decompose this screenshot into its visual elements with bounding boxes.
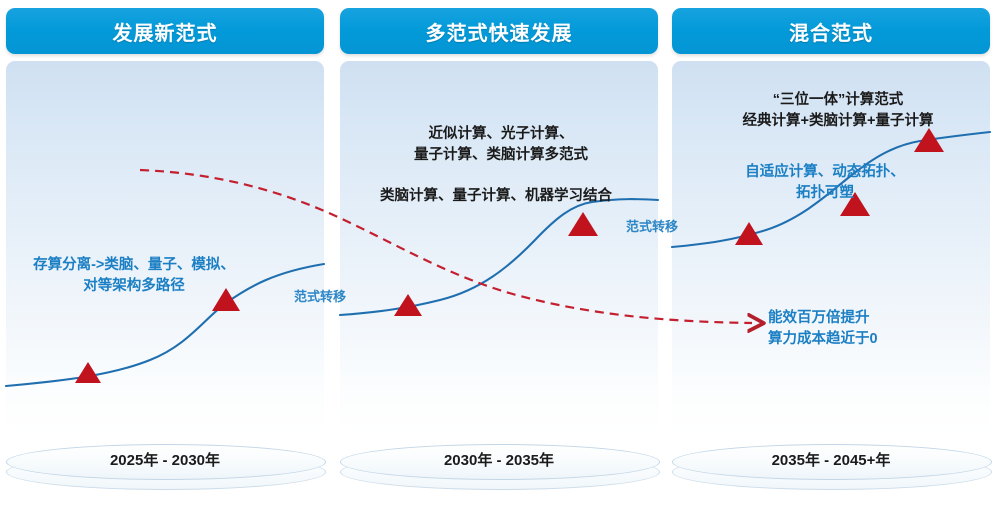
cost-arrow-label: 能效百万倍提升 算力成本趋近于0 [768,308,948,350]
annotation-stage-1: 存算分离->类脑、量子、模拟、 对等架构多路径 [14,255,254,297]
annotation-stage-2-mid: 类脑计算、量子计算、机器学习结合 [346,186,646,207]
roadmap-diagram: 发展新范式 多范式快速发展 混合范式 [0,0,994,514]
stage-body-1 [6,61,324,433]
paradigm-shift-label-2: 范式转移 [626,216,678,235]
stage-title-2: 多范式快速发展 [426,17,573,46]
stage-header-1[interactable]: 发展新范式 [6,8,324,54]
period-label-2: 2030年 - 2035年 [340,449,658,470]
stage-panel-1: 发展新范式 [6,0,324,440]
annotation-stage-2-top: 近似计算、光子计算、 量子计算、类脑计算多范式 [356,124,646,166]
stage-panel-2: 多范式快速发展 [340,0,658,440]
period-disc-3: 2035年 - 2045+年 [672,440,990,504]
annotation-stage-3-top: “三位一体”计算范式 经典计算+类脑计算+量子计算 [690,90,986,132]
period-label-1: 2025年 - 2030年 [6,449,324,470]
stage-title-3: 混合范式 [789,17,873,46]
stage-body-2 [340,61,658,433]
stage-title-1: 发展新范式 [113,17,218,46]
period-disc-1: 2025年 - 2030年 [6,440,324,504]
period-label-3: 2035年 - 2045+年 [672,449,990,470]
period-disc-2: 2030年 - 2035年 [340,440,658,504]
annotation-stage-3-mid: 自适应计算、动态拓扑、 拓扑可塑 [690,162,960,204]
stage-header-2[interactable]: 多范式快速发展 [340,8,658,54]
paradigm-shift-label-1: 范式转移 [294,286,346,305]
stage-panel-3: 混合范式 [672,0,990,440]
stage-header-3[interactable]: 混合范式 [672,8,990,54]
